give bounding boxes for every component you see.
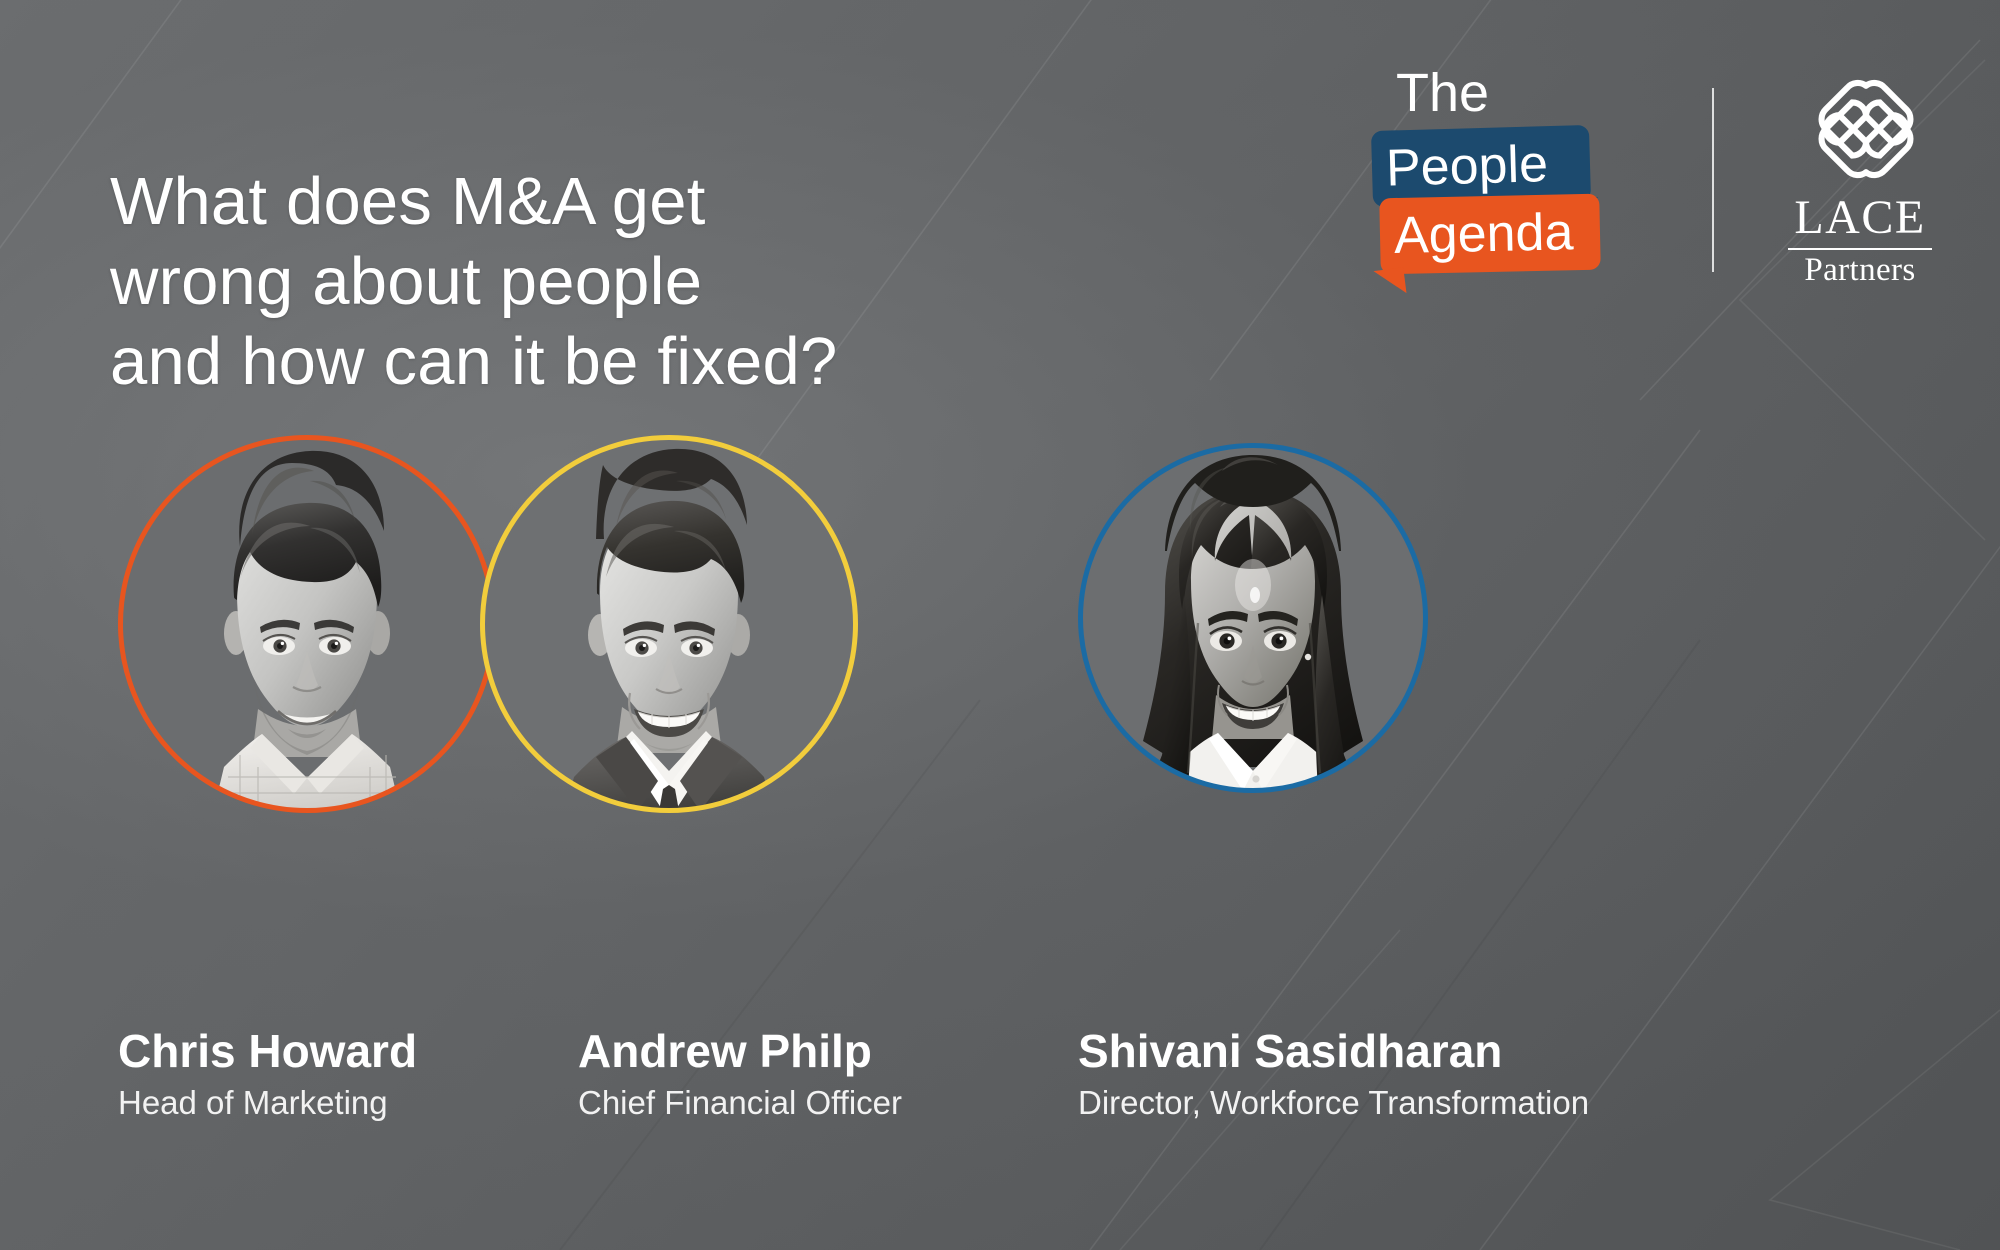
presentation-slide: What does M&A get wrong about people and…	[0, 0, 2000, 1250]
presenter-role: Director, Workforce Transformation	[1078, 1086, 1589, 1119]
presenter-role: Head of Marketing	[118, 1086, 388, 1119]
hair-overflow-andrew	[482, 431, 856, 541]
avatar-andrew-philp[interactable]	[480, 435, 858, 813]
presenter-name: Andrew Philp	[578, 1028, 872, 1074]
presenter-name: Chris Howard	[118, 1028, 417, 1074]
avatar-shivani-sasidharan[interactable]	[1078, 443, 1428, 793]
hair-overflow-shivani	[1080, 421, 1426, 551]
presenter-group: Chris Howard Head of Marketing	[0, 0, 2000, 1250]
presenter-role: Chief Financial Officer	[578, 1086, 902, 1119]
presenter-name: Shivani Sasidharan	[1078, 1028, 1502, 1074]
hair-overflow-chris	[120, 429, 494, 549]
avatar-chris-howard[interactable]	[118, 435, 496, 813]
